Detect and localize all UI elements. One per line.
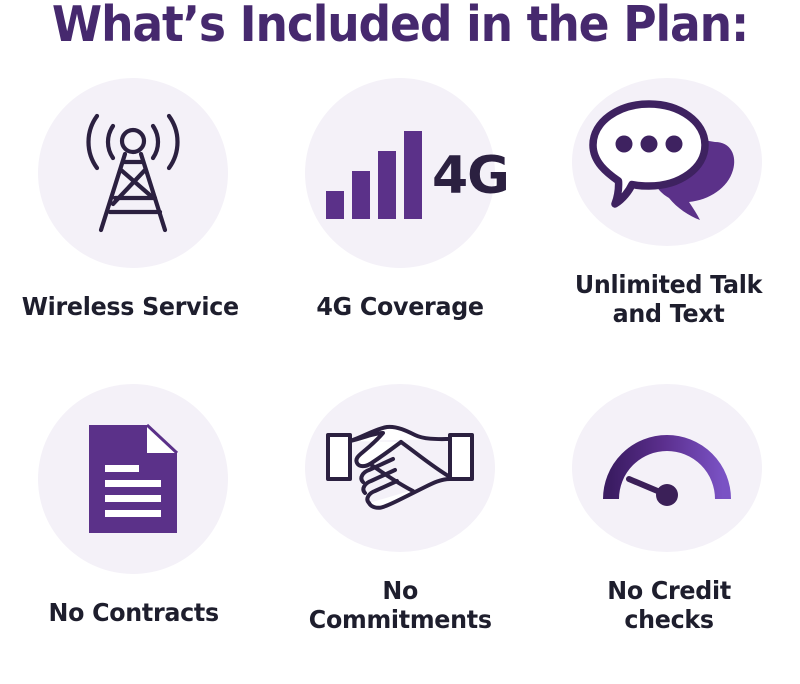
feature-label: No Credit checks (607, 576, 731, 634)
feature-icon-disc (38, 78, 228, 268)
feature-item-4g-coverage: 4G 4G Coverage (267, 78, 534, 328)
feature-item-no-commitments: No Commitments (267, 384, 534, 634)
feature-label: No Commitments (309, 576, 492, 634)
feature-label: Unlimited Talk and Text (575, 270, 762, 328)
cell-tower-icon (63, 108, 203, 238)
feature-label: No Contracts (48, 598, 218, 627)
feature-icon-disc (572, 78, 762, 246)
signal-bars-4g-icon: 4G (320, 123, 480, 223)
feature-icon-disc (572, 384, 762, 552)
feature-item-no-contracts: No Contracts (0, 384, 267, 634)
chat-bubbles-icon (597, 98, 737, 226)
feature-label: 4G Coverage (316, 292, 483, 321)
feature-label: Wireless Service (22, 292, 239, 321)
feature-item-unlimited-talk-text: Unlimited Talk and Text (533, 78, 800, 328)
speedometer-gauge-icon (603, 429, 731, 507)
feature-item-wireless-service: Wireless Service (0, 78, 267, 328)
feature-icon-disc (38, 384, 228, 574)
svg-text:4G: 4G (432, 146, 509, 206)
feature-item-no-credit-checks: No Credit checks (533, 384, 800, 634)
document-icon (87, 423, 179, 535)
feature-grid-page: What’s Included in the Plan: (0, 0, 800, 684)
page-title: What’s Included in the Plan: (28, 0, 772, 53)
handshake-icon (325, 421, 475, 515)
feature-icon-disc: 4G (305, 78, 495, 268)
features-grid: Wireless Service 4G 4G Coverage (0, 78, 800, 634)
feature-icon-disc (305, 384, 495, 552)
